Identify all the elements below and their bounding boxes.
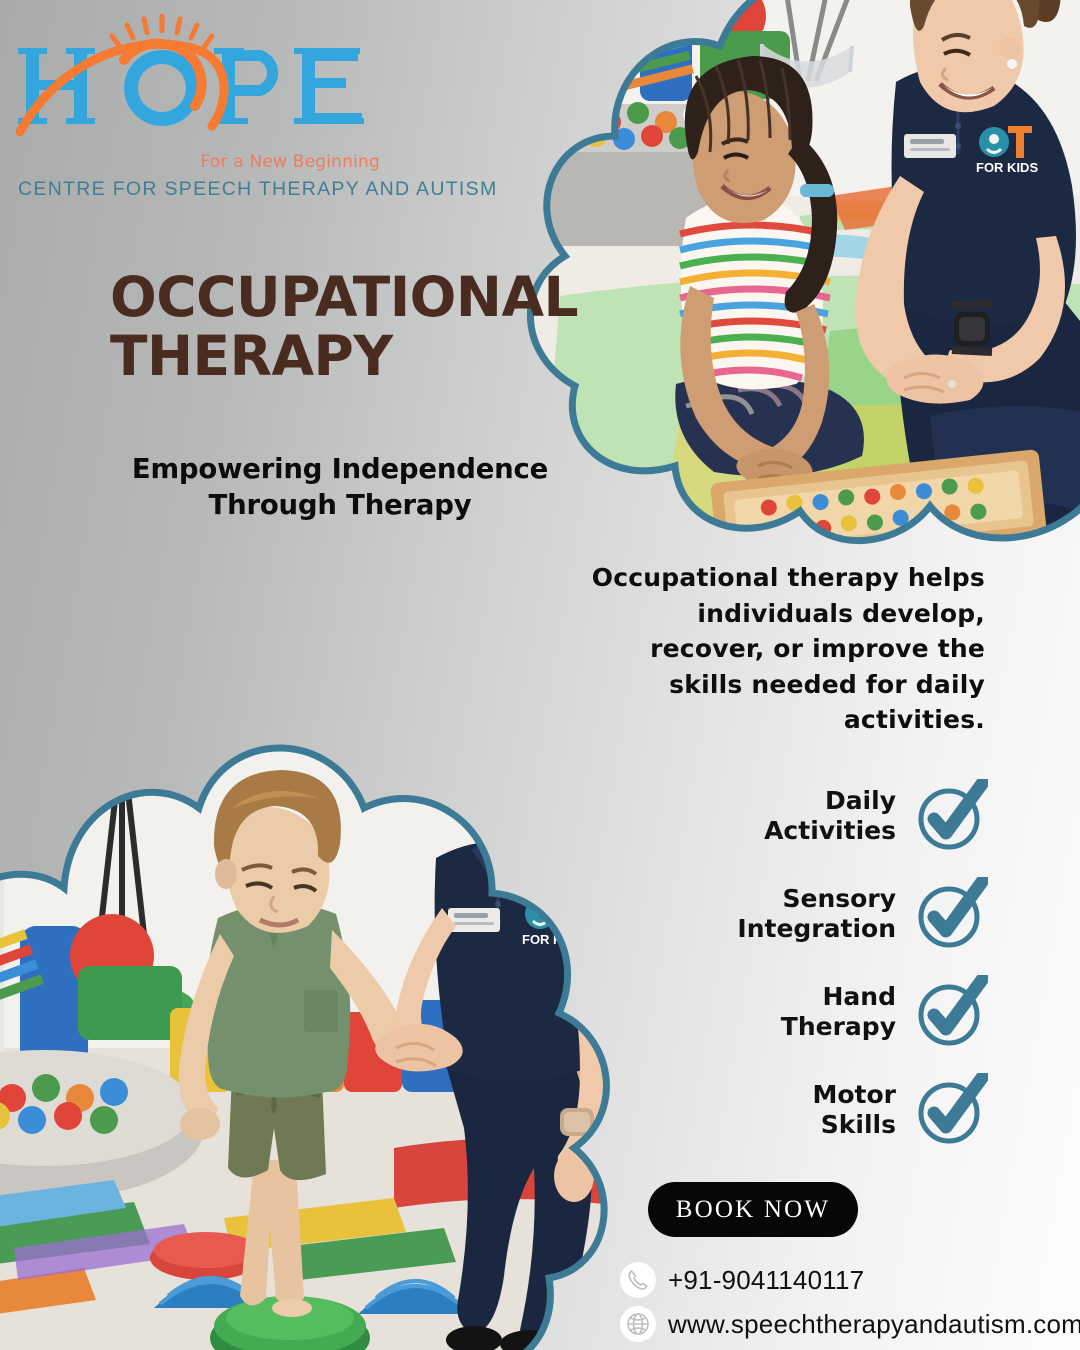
- subhead-line-1: Empowering Independence: [132, 453, 548, 485]
- contact-block: +91-9041140117 www.speechtherapyandautis…: [620, 1258, 1080, 1346]
- checklist-label: Hand Therapy: [781, 982, 896, 1041]
- logo-tagline: For a New Beginning: [200, 152, 380, 172]
- photo-top-right: FOR KIDS: [500, 0, 1080, 546]
- page-title: OCCUPATIONAL THERAPY: [110, 268, 580, 387]
- feature-checklist: Daily Activities Sensory Integration Han…: [698, 778, 988, 1170]
- check-circle-icon: [914, 1073, 988, 1147]
- check-circle-icon: [914, 779, 988, 853]
- list-item: Motor Skills: [698, 1072, 988, 1147]
- subhead-line-2: Through Therapy: [209, 489, 472, 521]
- hope-wordmark-icon: [16, 14, 371, 149]
- poster-canvas: FOR KIDS: [0, 0, 1080, 1350]
- photo-bottom-left: FOR KIDS: [0, 608, 654, 1350]
- checklist-label: Daily Activities: [764, 786, 896, 845]
- svg-text:FOR KIDS: FOR KIDS: [976, 160, 1038, 175]
- globe-icon: [620, 1306, 656, 1342]
- logo-subtitle: CENTRE FOR SPEECH THERAPY AND AUTISM: [18, 178, 498, 201]
- contact-phone-row[interactable]: +91-9041140117: [620, 1258, 1080, 1302]
- svg-text:FOR KIDS: FOR KIDS: [522, 932, 584, 947]
- check-circle-icon: [914, 877, 988, 951]
- headline-line-1: OCCUPATIONAL: [110, 265, 578, 329]
- list-item: Daily Activities: [698, 778, 988, 853]
- phone-number: +91-9041140117: [668, 1265, 864, 1296]
- page-subtitle: Empowering Independence Through Therapy: [100, 452, 580, 524]
- logo-mark: [16, 14, 371, 149]
- list-item: Hand Therapy: [698, 974, 988, 1049]
- book-now-button[interactable]: BOOK NOW: [648, 1182, 858, 1237]
- checklist-label: Motor Skills: [812, 1080, 896, 1139]
- description-text: Occupational therapy helps individuals d…: [585, 560, 985, 738]
- check-circle-icon: [914, 975, 988, 1049]
- headline-line-2: THERAPY: [110, 324, 393, 388]
- checklist-label: Sensory Integration: [737, 884, 896, 943]
- website-url: www.speechtherapyandautism.com: [668, 1309, 1080, 1340]
- phone-icon: [620, 1262, 656, 1298]
- list-item: Sensory Integration: [698, 876, 988, 951]
- brand-logo: For a New Beginning CENTRE FOR SPEECH TH…: [16, 14, 386, 194]
- contact-website-row[interactable]: www.speechtherapyandautism.com: [620, 1302, 1080, 1346]
